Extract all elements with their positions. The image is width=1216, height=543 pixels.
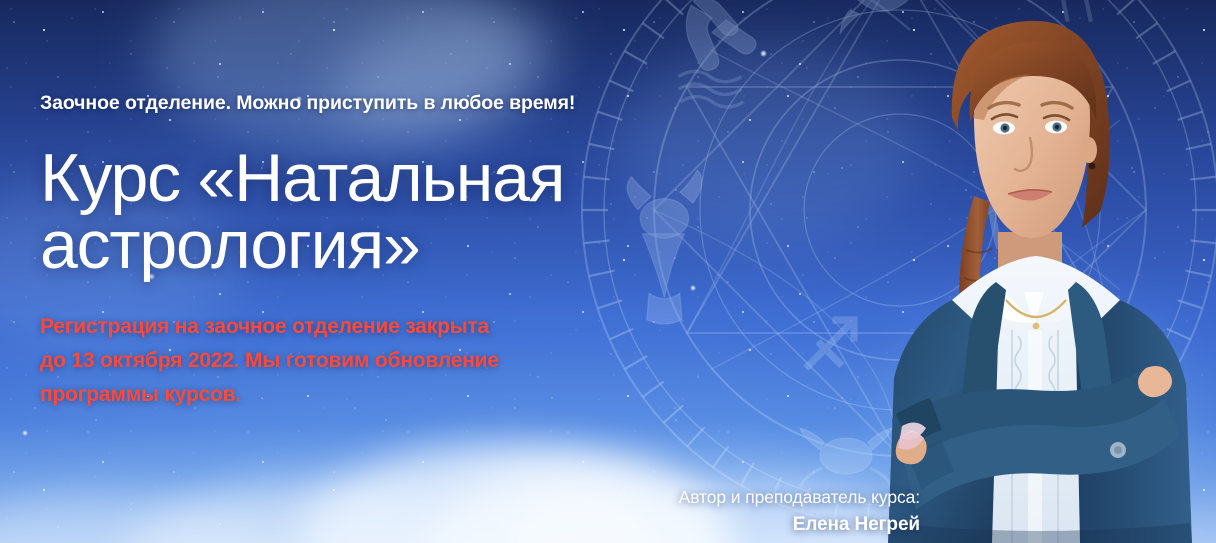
- course-hero-banner: Заочное отделение. Можно приступить в лю…: [0, 0, 1216, 543]
- author-credit: Автор и преподаватель курса: Елена Негре…: [679, 485, 920, 539]
- notice-line-2: до 13 октября 2022. Мы готовим обновлени…: [40, 344, 800, 378]
- bright-star: [22, 430, 28, 436]
- notice-line-1: Регистрация на заочное отделение закрыта: [40, 310, 800, 344]
- headline-line-1: Курс «Натальная: [40, 145, 800, 212]
- page-title: Курс «Натальная астрология»: [40, 145, 800, 280]
- kicker-text: Заочное отделение. Можно приступить в лю…: [40, 92, 800, 115]
- notice-line-3: программы курсов.: [40, 378, 800, 412]
- hero-copy: Заочное отделение. Можно приступить в лю…: [40, 0, 800, 412]
- registration-closed-notice: Регистрация на заочное отделение закрыта…: [40, 310, 800, 412]
- headline-line-2: астрология»: [40, 212, 800, 279]
- author-name: Елена Негрей: [679, 511, 920, 540]
- author-role-label: Автор и преподаватель курса:: [679, 485, 920, 510]
